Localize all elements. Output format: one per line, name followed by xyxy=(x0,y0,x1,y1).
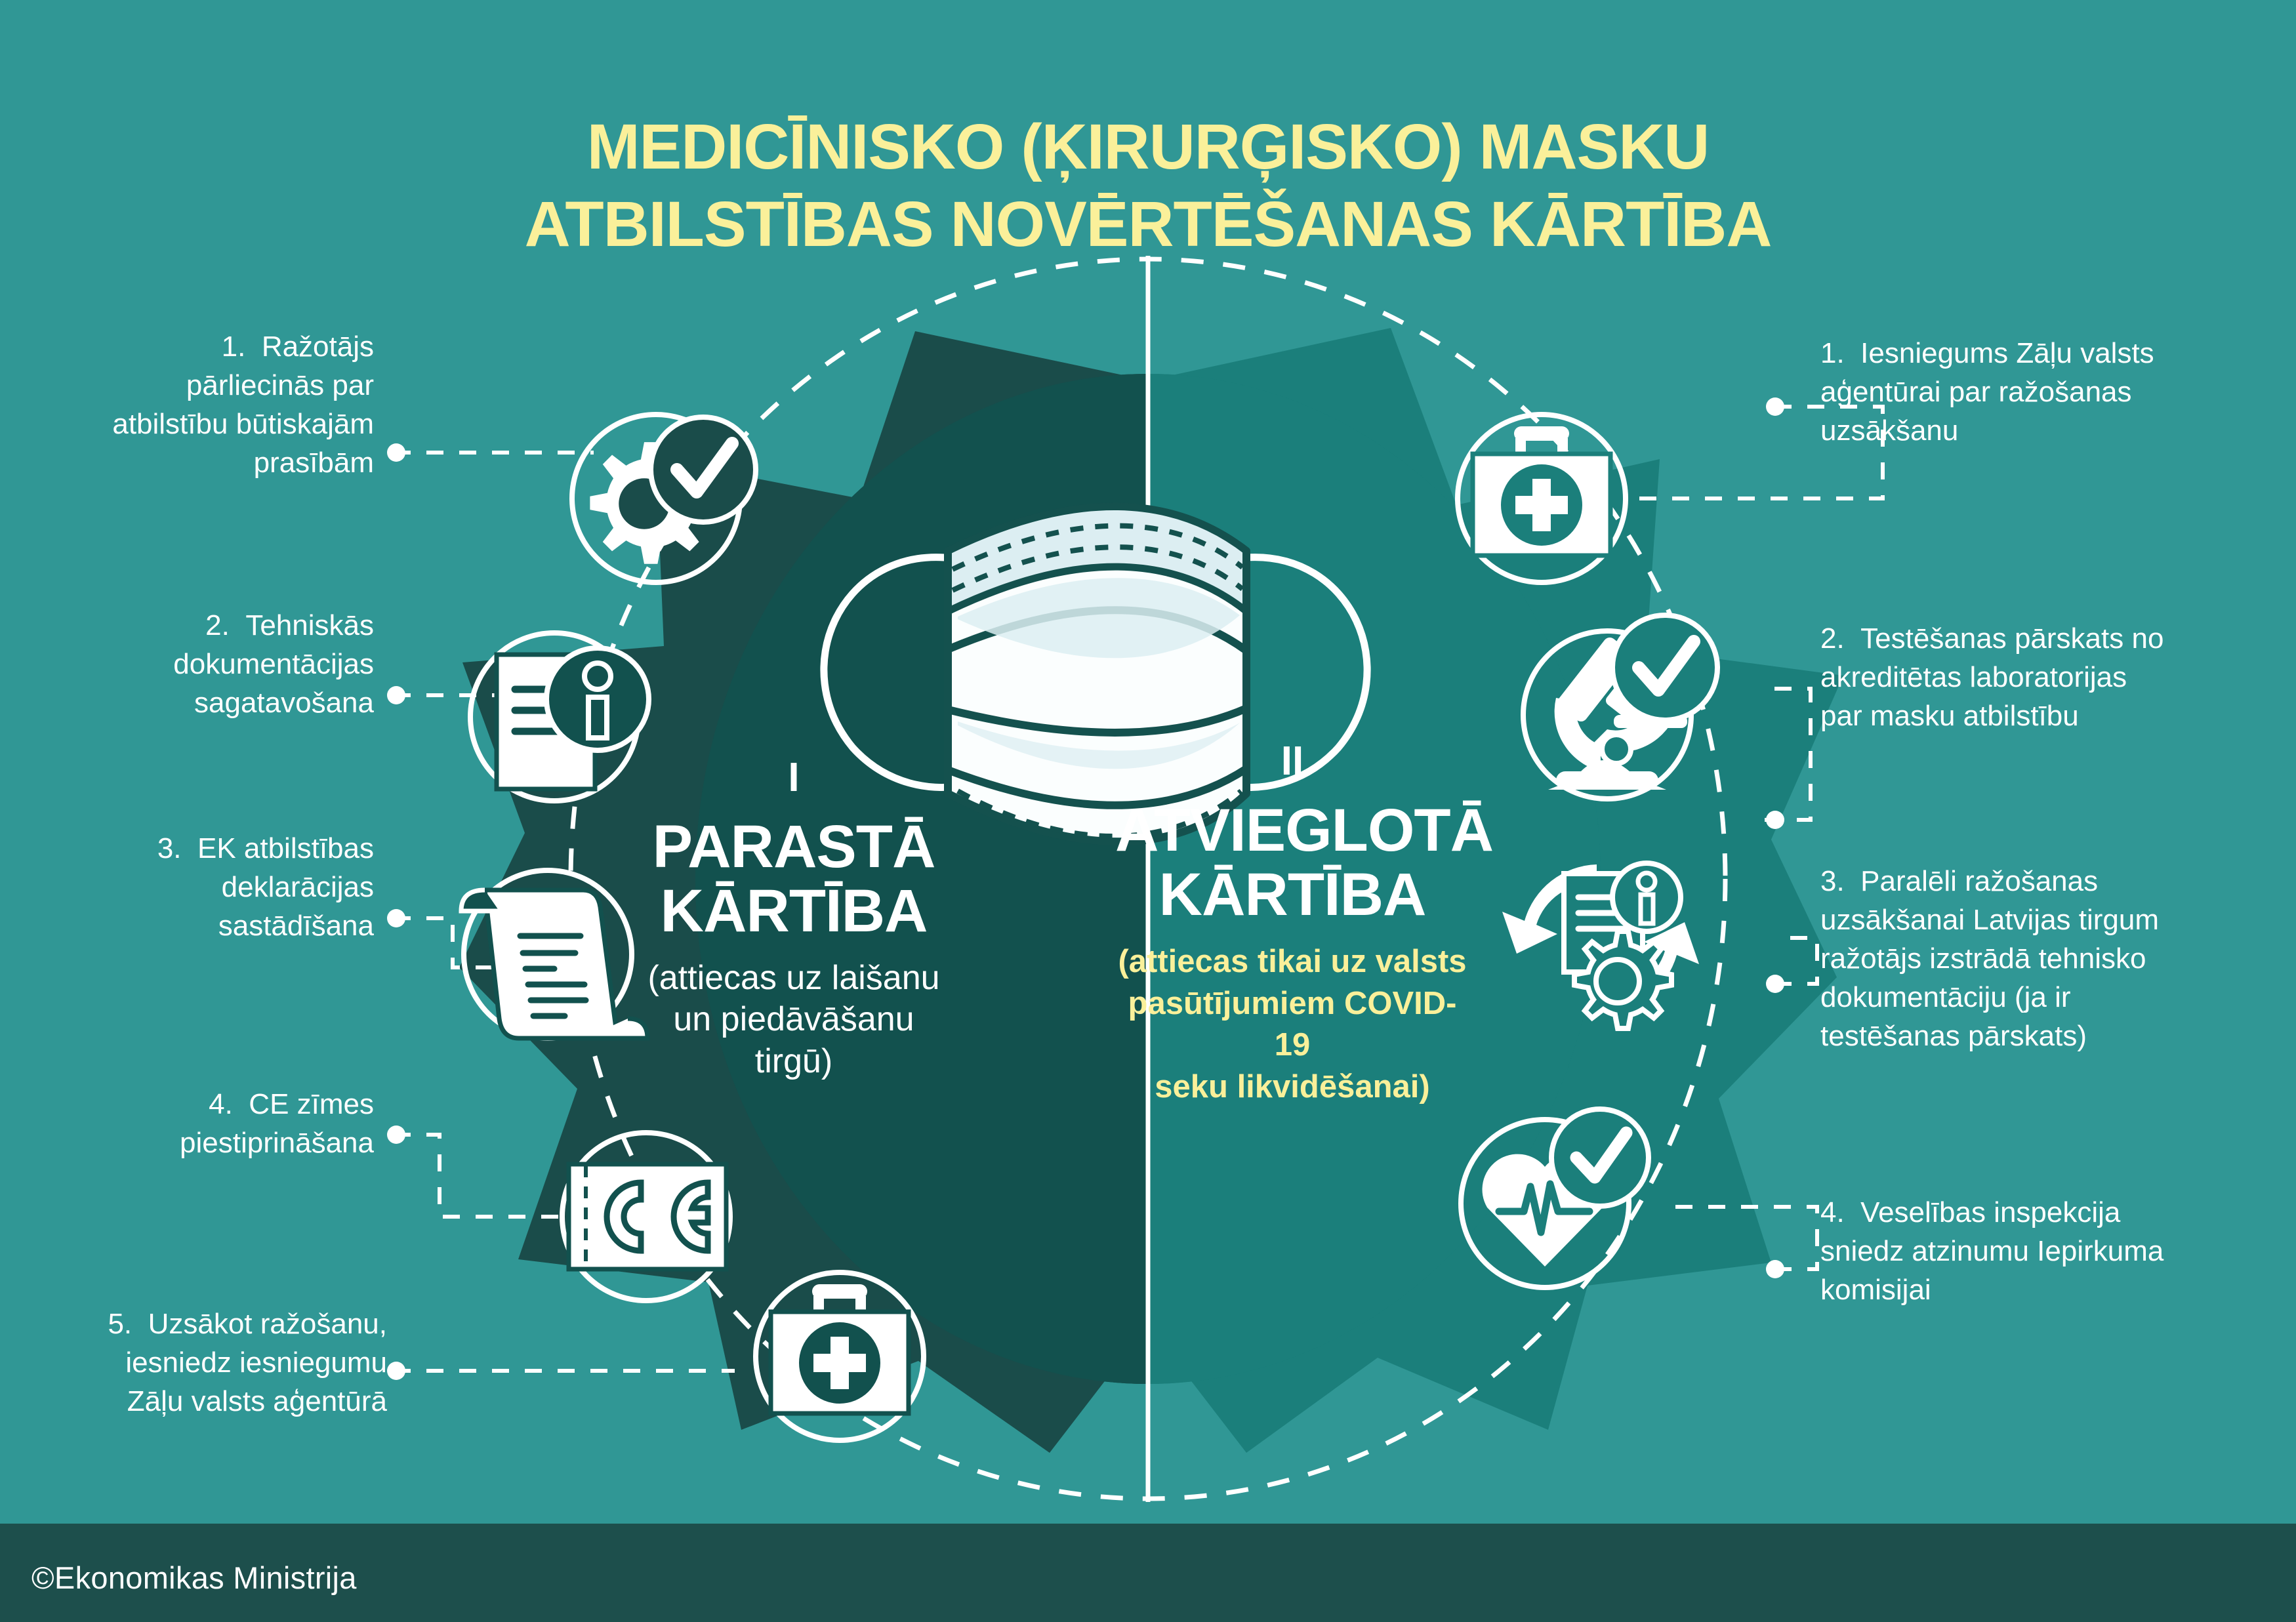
right-step-1: 1. Iesniegums Zāļu valsts aģentūrai par … xyxy=(1820,335,2221,451)
right-step-4: 4. Veselības inspekcija sniedz atzinumu … xyxy=(1820,1194,2221,1310)
right-step-2-line-2: akreditētas laboratorijas xyxy=(1820,659,2221,697)
right-step-4-line-1: 4. Veselības inspekcija xyxy=(1820,1194,2221,1232)
left-step-4-dot xyxy=(387,1125,405,1144)
left-step-1-line-4: prasībām xyxy=(26,444,374,483)
copyright-text: ©Ekonomikas Ministrija xyxy=(31,1560,357,1596)
left-step-3-dot xyxy=(387,909,405,927)
right-step-3-dot xyxy=(1766,975,1784,993)
first-aid-kit-icon-bottom xyxy=(756,1272,924,1440)
title-line-1: MEDICĪNISKO (ĶIRURĢISKO) MASKU xyxy=(0,108,2296,186)
right-step-4-line-3: komisijai xyxy=(1820,1271,2221,1310)
right-step-2-line-1: 2. Testēšanas pārskats no xyxy=(1820,620,2221,659)
left-step-4-line-1: 4. CE zīmes xyxy=(26,1085,374,1124)
center-left-roman: I xyxy=(636,758,951,798)
left-step-1-line-3: atbilstību būtiskajām xyxy=(26,405,374,444)
left-step-3: 3. EK atbilstības deklarācijas sastādīša… xyxy=(26,830,374,946)
center-right-heading-1: ATVIEGLOTĀ xyxy=(1115,799,1469,863)
left-step-5-dot xyxy=(387,1362,405,1380)
center-right-sub-3: seku likvidēšanai) xyxy=(1115,1066,1469,1108)
left-step-2-line-3: sagatavošana xyxy=(26,684,374,723)
center-left-heading-1: PARASTĀ xyxy=(636,815,951,880)
center-left-sub-1: (attiecas uz laišanu xyxy=(636,958,951,999)
center-label-right: II ATVIEGLOTĀ KĀRTĪBA (attiecas tikai uz… xyxy=(1115,741,1469,1108)
right-step-3-line-2: uzsākšanai Latvijas tirgum xyxy=(1820,901,2221,940)
left-step-2-line-2: dokumentācijas xyxy=(26,645,374,684)
right-step-2-line-3: par masku atbilstību xyxy=(1820,697,2221,736)
center-label-left: I PARASTĀ KĀRTĪBA (attiecas uz laišanu u… xyxy=(636,758,951,1082)
right-step-3: 3. Paralēli ražošanas uzsākšanai Latvija… xyxy=(1820,862,2221,1056)
left-step-5-line-1: 5. Uzsākot ražošanu, xyxy=(20,1305,387,1344)
center-right-roman: II xyxy=(1115,741,1469,782)
left-step-2: 2. Tehniskās dokumentācijas sagatavošana xyxy=(26,607,374,723)
left-step-4-line-2: piestiprināšana xyxy=(26,1124,374,1163)
left-step-2-dot xyxy=(387,686,405,704)
left-step-1-line-2: pārliecinās par xyxy=(26,367,374,405)
page-title: MEDICĪNISKO (ĶIRURĢISKO) MASKU ATBILSTĪB… xyxy=(0,108,2296,264)
right-step-4-line-2: sniedz atzinumu Iepirkuma xyxy=(1820,1232,2221,1271)
left-step-5: 5. Uzsākot ražošanu, iesniedz iesniegumu… xyxy=(20,1305,387,1421)
right-step-3-line-1: 3. Paralēli ražošanas xyxy=(1820,862,2221,901)
left-step-5-line-2: iesniedz iesniegumu xyxy=(20,1344,387,1383)
right-step-3-line-5: testēšanas pārskats) xyxy=(1820,1017,2221,1056)
right-step-1-line-2: aģentūrai par ražošanas xyxy=(1820,373,2221,412)
center-left-sub-2: un piedāvāšanu tirgū) xyxy=(636,999,951,1082)
right-step-3-line-3: ražotājs izstrādā tehnisko xyxy=(1820,940,2221,979)
right-step-4-dot xyxy=(1766,1260,1784,1278)
left-step-3-line-2: deklarācijas xyxy=(26,868,374,907)
left-step-5-line-3: Zāļu valsts aģentūrā xyxy=(20,1383,387,1421)
left-step-3-line-1: 3. EK atbilstības xyxy=(26,830,374,868)
left-step-1-dot xyxy=(387,443,405,462)
first-aid-kit-icon-right xyxy=(1458,415,1626,582)
title-line-2: ATBILSTĪBAS NOVĒRTĒŠANAS KĀRTĪBA xyxy=(0,186,2296,263)
left-step-2-line-1: 2. Tehniskās xyxy=(26,607,374,645)
right-step-1-line-1: 1. Iesniegums Zāļu valsts xyxy=(1820,335,2221,373)
right-step-2-dot xyxy=(1766,811,1784,829)
center-right-heading-2: KĀRTĪBA xyxy=(1115,863,1469,927)
center-right-sub-2: pasūtījumiem COVID-19 xyxy=(1115,983,1469,1066)
right-step-1-dot xyxy=(1766,397,1784,416)
center-right-sub-1: (attiecas tikai uz valsts xyxy=(1115,941,1469,983)
left-step-1-line-1: 1. Ražotājs xyxy=(26,328,374,367)
center-left-heading-2: KĀRTĪBA xyxy=(636,880,951,944)
left-step-1: 1. Ražotājs pārliecinās par atbilstību b… xyxy=(26,328,374,483)
right-step-2: 2. Testēšanas pārskats no akreditētas la… xyxy=(1820,620,2221,736)
right-step-1-line-3: uzsākšanu xyxy=(1820,412,2221,451)
left-step-3-line-3: sastādīšana xyxy=(26,907,374,946)
right-step-3-line-4: dokumentāciju (ja ir xyxy=(1820,979,2221,1017)
left-step-4: 4. CE zīmes piestiprināšana xyxy=(26,1085,374,1163)
